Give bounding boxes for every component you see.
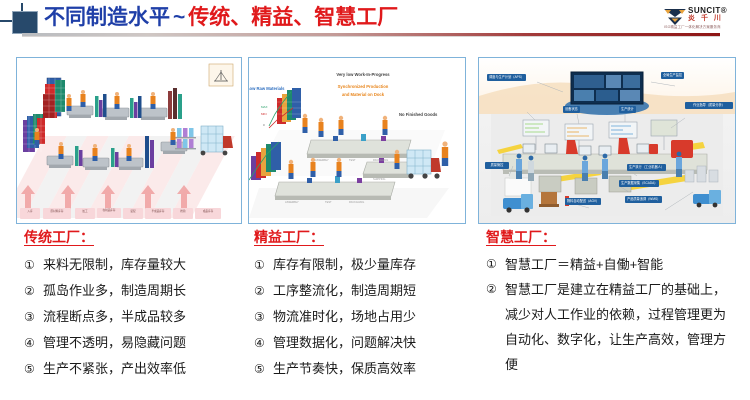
lean-caption-material-on-dock: and Material on Dock [317,92,409,97]
lean-caption-raw-materials: Low Raw Materials [248,86,284,91]
panel-smart-factory: 调度与生产计划（APS） 全局生产监控 设备状态 生产统计 作业指导（质量分析）… [478,57,736,224]
smart-chip-scada: 生产数据采集（SCADA） [619,180,659,187]
list-item: ②孤岛作业多，制造周期长 [24,278,252,304]
bullet-text: 管理不透明，易隐藏问题 [43,330,252,356]
smart-chip-wms: 产品质量追溯（WMS） [625,196,662,203]
panel-traditional-factory: 入库 原材料库存 加工 在制品库存 装配 半成品库存 检验 成品库存 [16,57,242,224]
floor-label: 原材料库存 [43,208,71,219]
smart-chip-global-monitor: 全局生产监控 [661,72,684,79]
bullet-number: ① [254,252,273,278]
bullet-list-smart: ①智慧工厂＝精益+自働+智能 ②智慧工厂是建立在精益工厂的基础上，减少对人工作业… [486,252,736,377]
list-item: ④管理不透明，易隐藏问题 [24,330,252,356]
traditional-factory-scene [17,58,241,223]
lean-station-label: TEST [325,201,332,204]
bullet-number: ① [486,252,505,277]
lean-caption-wip: Very low Work-In-Progress [317,72,409,77]
lean-caption-sync-production: Synchronized Production [317,84,409,89]
bullet-text: 智慧工厂是建立在精益工厂的基础上，减少对人工作业的依赖，过程管理更为自动化、数字… [505,277,736,377]
lean-station-label: PACKAGING [349,201,364,204]
floor-label: 检验 [173,208,193,219]
bullet-text: 来料无限制，库存量较大 [43,252,252,278]
list-item: ①来料无限制，库存量较大 [24,252,252,278]
bullet-text: 管理数据化，问题解决快 [273,330,482,356]
bullet-number: ④ [254,330,273,356]
lean-station-label: ASSEMBLY [315,159,329,162]
smart-chip-quality-control: 质量管控 [485,162,509,169]
column-heading-smart: 智慧工厂： [486,228,736,246]
page-title: 不同制造水平~传统、精益、智慧工厂 [44,5,398,31]
bullet-number: ② [486,277,505,302]
floor-label: 成品库存 [195,208,221,219]
bullet-number: ③ [254,304,273,330]
column-traditional: 传统工厂： ①来料无限制，库存量较大 ②孤岛作业多，制造周期长 ③流程断点多，半… [24,228,252,382]
lean-station-label: TEST [349,159,356,162]
bullet-text: 生产节奏快，保质高效率 [273,356,482,382]
floor-label: 入库 [20,208,40,219]
smart-chip-production-stats: 生产统计 [619,106,636,113]
bullet-number: ④ [24,330,43,356]
list-item: ④管理数据化，问题解决快 [254,330,482,356]
floor-label: 在制品库存 [97,208,121,218]
list-item: ③流程断点多，半成品较多 [24,304,252,330]
bullet-number: ⑤ [254,356,273,382]
bullet-number: ① [24,252,43,278]
bullet-text: 生产不紧张，产出效率低 [43,356,252,382]
page-title-blue: 不同制造水平 [44,6,170,29]
list-item: ①智慧工厂＝精益+自働+智能 [486,252,736,277]
floor-label: 装配 [123,208,143,219]
bullet-number: ③ [24,304,43,330]
bullet-text: 流程断点多，半成品较多 [43,304,252,330]
lean-station-label: PACKAGING [373,159,388,162]
page-title-red: 传统、精益、智慧工厂 [188,6,398,29]
smart-chip-aps: 调度与生产计划（APS） [487,74,526,81]
list-item: ⑤生产节奏快，保质高效率 [254,356,482,382]
bullet-text: 工序整流化，制造周期短 [273,278,482,304]
floor-label: 加工 [75,208,95,219]
list-item: ①库存有限制，极少量库存 [254,252,482,278]
smart-chip-production-execution: 生产执行（工业机器人） [627,164,666,171]
svg-text:MIN: MIN [261,112,267,116]
logo-tagline: ISO精益工厂一体化解决方案服务商 [664,24,721,29]
svg-text:MAX: MAX [261,105,268,109]
column-heading-lean: 精益工厂： [254,228,482,246]
panel-lean-factory: MAX MIN 0 [248,57,466,224]
header-square-mark [12,11,38,34]
smart-chip-work-instruction: 作业指导（质量分析） [685,102,733,109]
lean-factory-scene: MAX MIN 0 [249,58,465,223]
lean-station-label: SHIPPING [373,178,385,181]
bullet-list-lean: ①库存有限制，极少量库存 ②工序整流化，制造周期短 ③物流准时化，场地占用少 ④… [254,252,482,382]
header-divider-rule-shadow [22,36,720,37]
column-smart: 智慧工厂： ①智慧工厂＝精益+自働+智能 ②智慧工厂是建立在精益工厂的基础上，减… [486,228,736,377]
bullet-text: 库存有限制，极少量库存 [273,252,482,278]
bullet-text: 物流准时化，场地占用少 [273,304,482,330]
bullet-number: ② [254,278,273,304]
column-heading-traditional: 传统工厂： [24,228,252,246]
bullet-number: ② [24,278,43,304]
page-title-tilde: ~ [170,6,188,29]
lean-caption-no-finished-goods: No Finished Goods [399,112,437,117]
column-lean: 精益工厂： ①库存有限制，极少量库存 ②工序整流化，制造周期短 ③物流准时化，场… [254,228,482,382]
logo-chinese-name: 炎 千 川 [688,15,723,23]
smart-chip-equipment-status: 设备状态 [563,106,580,113]
company-logo: SUNCIT® 炎 千 川 ISO精益工厂一体化解决方案服务商 [664,6,742,30]
logo-wordmark: SUNCIT® [688,6,727,15]
lean-station-label: ASSEMBLY [285,201,299,204]
list-item: ②智慧工厂是建立在精益工厂的基础上，减少对人工作业的依赖，过程管理更为自动化、数… [486,277,736,377]
bullet-list-traditional: ①来料无限制，库存量较大 ②孤岛作业多，制造周期长 ③流程断点多，半成品较多 ④… [24,252,252,382]
smart-chip-agv: 物料自动配送（AGV） [565,198,601,205]
bullet-text: 孤岛作业多，制造周期长 [43,278,252,304]
list-item: ②工序整流化，制造周期短 [254,278,482,304]
list-item: ③物流准时化，场地占用少 [254,304,482,330]
bullet-text: 智慧工厂＝精益+自働+智能 [505,252,736,277]
list-item: ⑤生产不紧张，产出效率低 [24,356,252,382]
smart-factory-scene [479,58,735,223]
floor-label: 半成品库存 [145,208,171,219]
svg-text:0: 0 [263,123,265,127]
page-header: 不同制造水平~传统、精益、智慧工厂 SUNCIT® 炎 千 川 ISO精益工厂一… [0,0,750,46]
bullet-number: ⑤ [24,356,43,382]
